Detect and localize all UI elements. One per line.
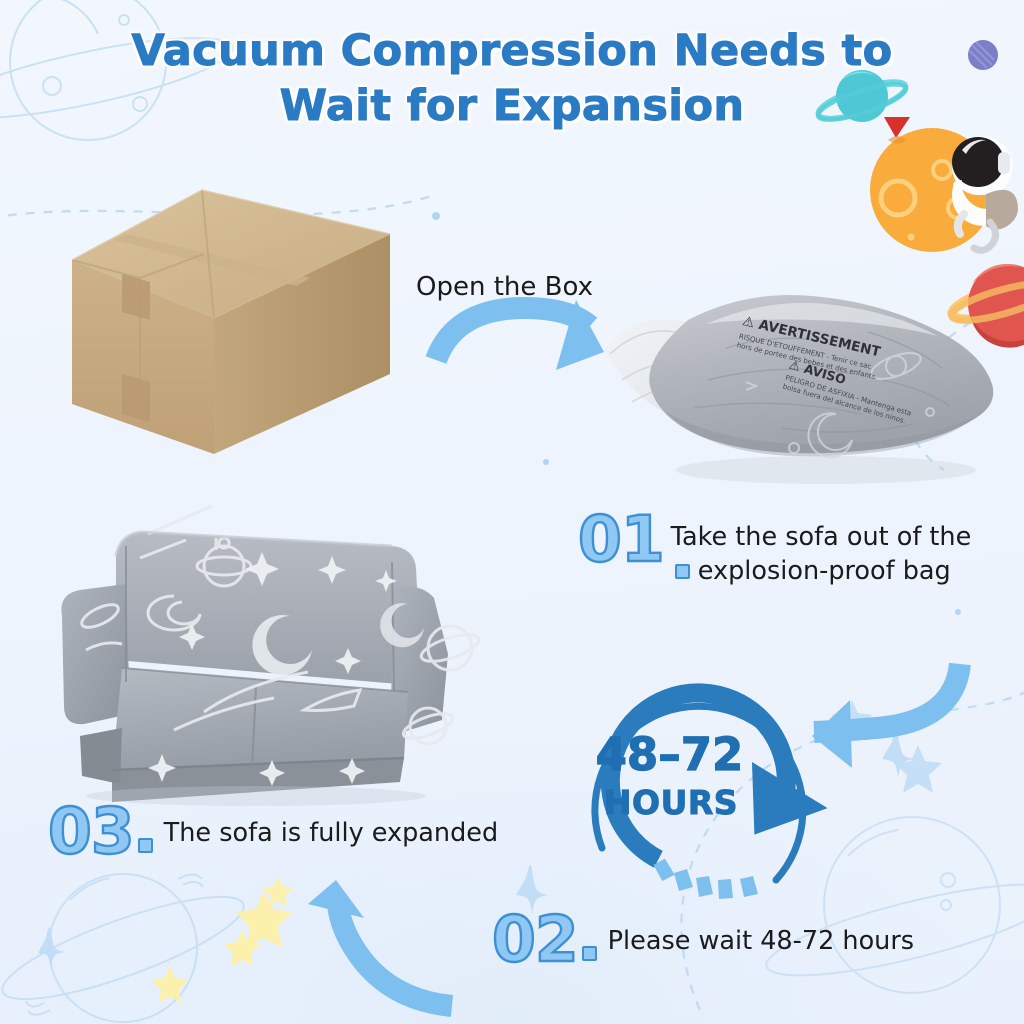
astronaut-icon (952, 137, 1018, 250)
step-03-number-text: 03 (48, 795, 134, 868)
sofa-image (56, 500, 504, 800)
arrow-step2-to-step3-icon (308, 880, 452, 1006)
open-the-box-label: Open the Box (416, 272, 593, 302)
step-01-number-text: 01 (578, 503, 664, 576)
step-03-text: The sofa is fully expanded (164, 812, 498, 850)
step-01: 01 Take the sofa out of the explosion-pr… (578, 508, 1009, 588)
step-02: 02 Please wait 48-72 hours (492, 908, 914, 971)
step-01-number: 01 (578, 508, 664, 571)
title-line-1: Vacuum Compression Needs to (0, 24, 1024, 79)
arrow-open-box-icon (436, 300, 604, 370)
step-02-number-text: 02 (492, 903, 578, 976)
timer-hours-unit: HOURS (562, 783, 780, 822)
infographic-canvas: Vacuum Compression Needs to Wait for Exp… (0, 0, 1024, 1024)
step-03-period-marker (138, 838, 153, 853)
timer-hours-range: 48–72 (562, 728, 777, 781)
timer-badge: 48–72 HOURS (562, 648, 862, 913)
step-02-period-marker (582, 946, 597, 961)
step-03: 03 The sofa is fully expanded (48, 800, 498, 863)
step-01-text: Take the sofa out of the explosion-proof… (671, 508, 1009, 588)
step-03-number: 03 (48, 800, 153, 863)
step-02-text: Please wait 48-72 hours (608, 920, 914, 958)
cardboard-box-image (52, 178, 404, 466)
step-01-period-marker (675, 564, 690, 579)
step-02-number: 02 (492, 908, 597, 971)
page-title: Vacuum Compression Needs to Wait for Exp… (0, 24, 1024, 134)
step-01-text-line-2: explosion-proof bag (698, 556, 951, 586)
step-01-text-line-1: Take the sofa out of the (671, 522, 972, 552)
title-line-2: Wait for Expansion (0, 79, 1024, 134)
